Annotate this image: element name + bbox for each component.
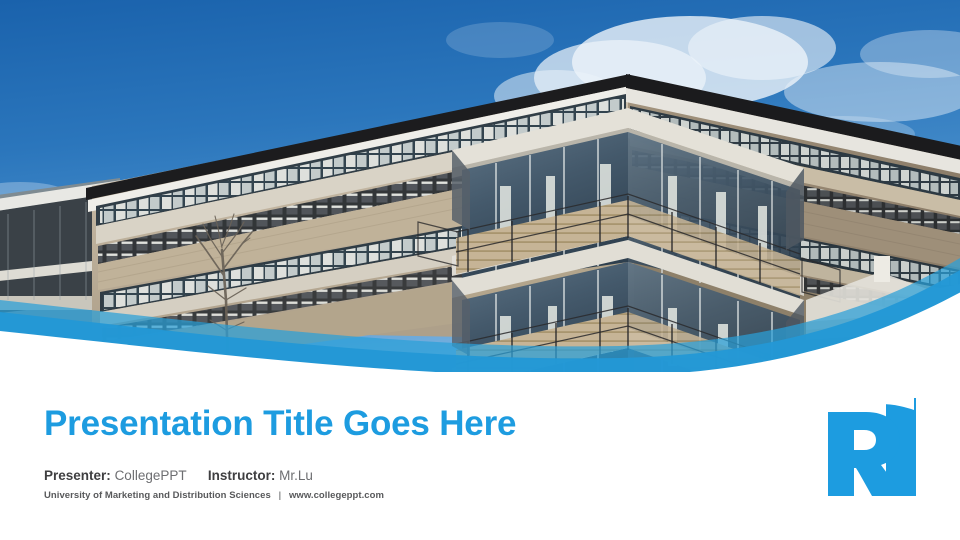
organization-line: University of Marketing and Distribution… (44, 490, 744, 501)
page-title: Presentation Title Goes Here (44, 406, 744, 443)
instructor-label: Instructor: (208, 468, 276, 483)
hero-photo-illustration (0, 0, 960, 372)
meta-block: Presenter: CollegePPT Instructor: Mr.Lu … (44, 467, 744, 501)
title-block: Presentation Title Goes Here (44, 406, 744, 443)
hero-photo (0, 0, 960, 372)
organization-name: University of Marketing and Distribution… (44, 490, 271, 501)
presenter-label: Presenter: (44, 468, 111, 483)
letter-r-logo-svg (814, 392, 926, 500)
presenter-value: CollegePPT (115, 468, 187, 483)
website-url: www.collegeppt.com (289, 490, 384, 501)
instructor-value: Mr.Lu (279, 468, 313, 483)
letter-r-logo-icon (814, 392, 926, 500)
title-slide: Presentation Title Goes Here Presenter: … (0, 0, 960, 540)
meta-separator: | (274, 490, 287, 501)
presenter-line: Presenter: CollegePPT Instructor: Mr.Lu (44, 467, 744, 485)
